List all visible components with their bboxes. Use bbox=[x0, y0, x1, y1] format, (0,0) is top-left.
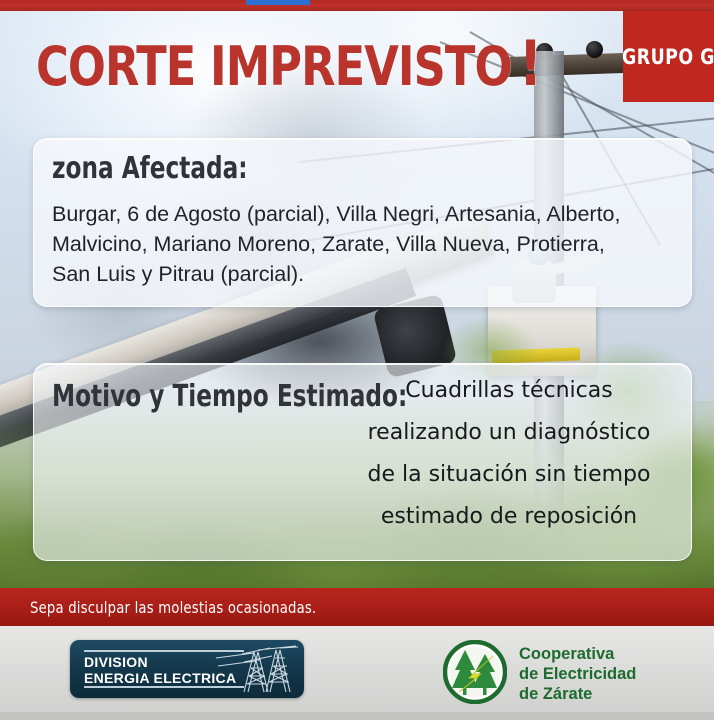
zone-line: San Luis y Pitrau (parcial). bbox=[52, 259, 672, 289]
flyer-photo-background: CORTE IMPREVISTO! zona Afectada: Burgar,… bbox=[0, 11, 714, 588]
coop-line2: de Electricidad bbox=[519, 664, 636, 684]
reason-line: realizando un diagnóstico bbox=[334, 412, 684, 454]
coop-line1: Cooperativa bbox=[519, 644, 636, 664]
cooperativa-logo-text: Cooperativa de Electricidad de Zárate bbox=[519, 644, 636, 704]
transmission-tower-icon bbox=[214, 644, 298, 694]
group-badge: GRUPO G bbox=[623, 11, 714, 102]
group-badge-label: GRUPO G bbox=[622, 45, 714, 69]
affected-zone-card: zona Afectada: Burgar, 6 de Agosto (parc… bbox=[33, 138, 692, 307]
reason-line: estimado de reposición bbox=[334, 496, 684, 538]
outage-notice-poster: CORTE IMPREVISTO! zona Afectada: Burgar,… bbox=[0, 0, 714, 720]
reason-and-time-card: Motivo y Tiempo Estimado: Cuadrillas téc… bbox=[33, 363, 692, 561]
cooperativa-tree-lightning-icon bbox=[443, 640, 507, 704]
zone-line: Malvicino, Mariano Moreno, Zarate, Villa… bbox=[52, 229, 672, 259]
affected-zone-title: zona Afectada: bbox=[52, 151, 248, 186]
top-red-strip bbox=[0, 0, 714, 11]
page-title: CORTE IMPREVISTO! bbox=[36, 33, 541, 95]
cooperativa-logo: Cooperativa de Electricidad de Zárate bbox=[443, 638, 683, 706]
headline-text: CORTE IMPREVISTO bbox=[36, 35, 512, 98]
zone-line: Burgar, 6 de Agosto (parcial), Villa Neg… bbox=[52, 199, 672, 229]
reason-line: de la situación sin tiempo bbox=[334, 454, 684, 496]
division-energia-electrica-logo: DIVISION ENERGIA ELECTRICA bbox=[70, 640, 304, 698]
reason-text: Cuadrillas técnicas realizando un diagnó… bbox=[334, 370, 684, 538]
bottom-edge bbox=[0, 712, 714, 720]
reason-line: Cuadrillas técnicas bbox=[334, 370, 684, 412]
top-blue-progress-segment bbox=[246, 0, 310, 5]
apology-text: Sepa disculpar las molestias ocasionadas… bbox=[30, 598, 316, 617]
footer-logos-strip: DIVISION ENERGIA ELECTRICA bbox=[0, 626, 714, 720]
coop-line3: de Zárate bbox=[519, 684, 636, 704]
headline-exclamation: ! bbox=[519, 27, 541, 100]
apology-band: Sepa disculpar las molestias ocasionadas… bbox=[0, 588, 714, 626]
affected-zone-list: Burgar, 6 de Agosto (parcial), Villa Neg… bbox=[52, 199, 672, 289]
insulator bbox=[586, 41, 603, 58]
